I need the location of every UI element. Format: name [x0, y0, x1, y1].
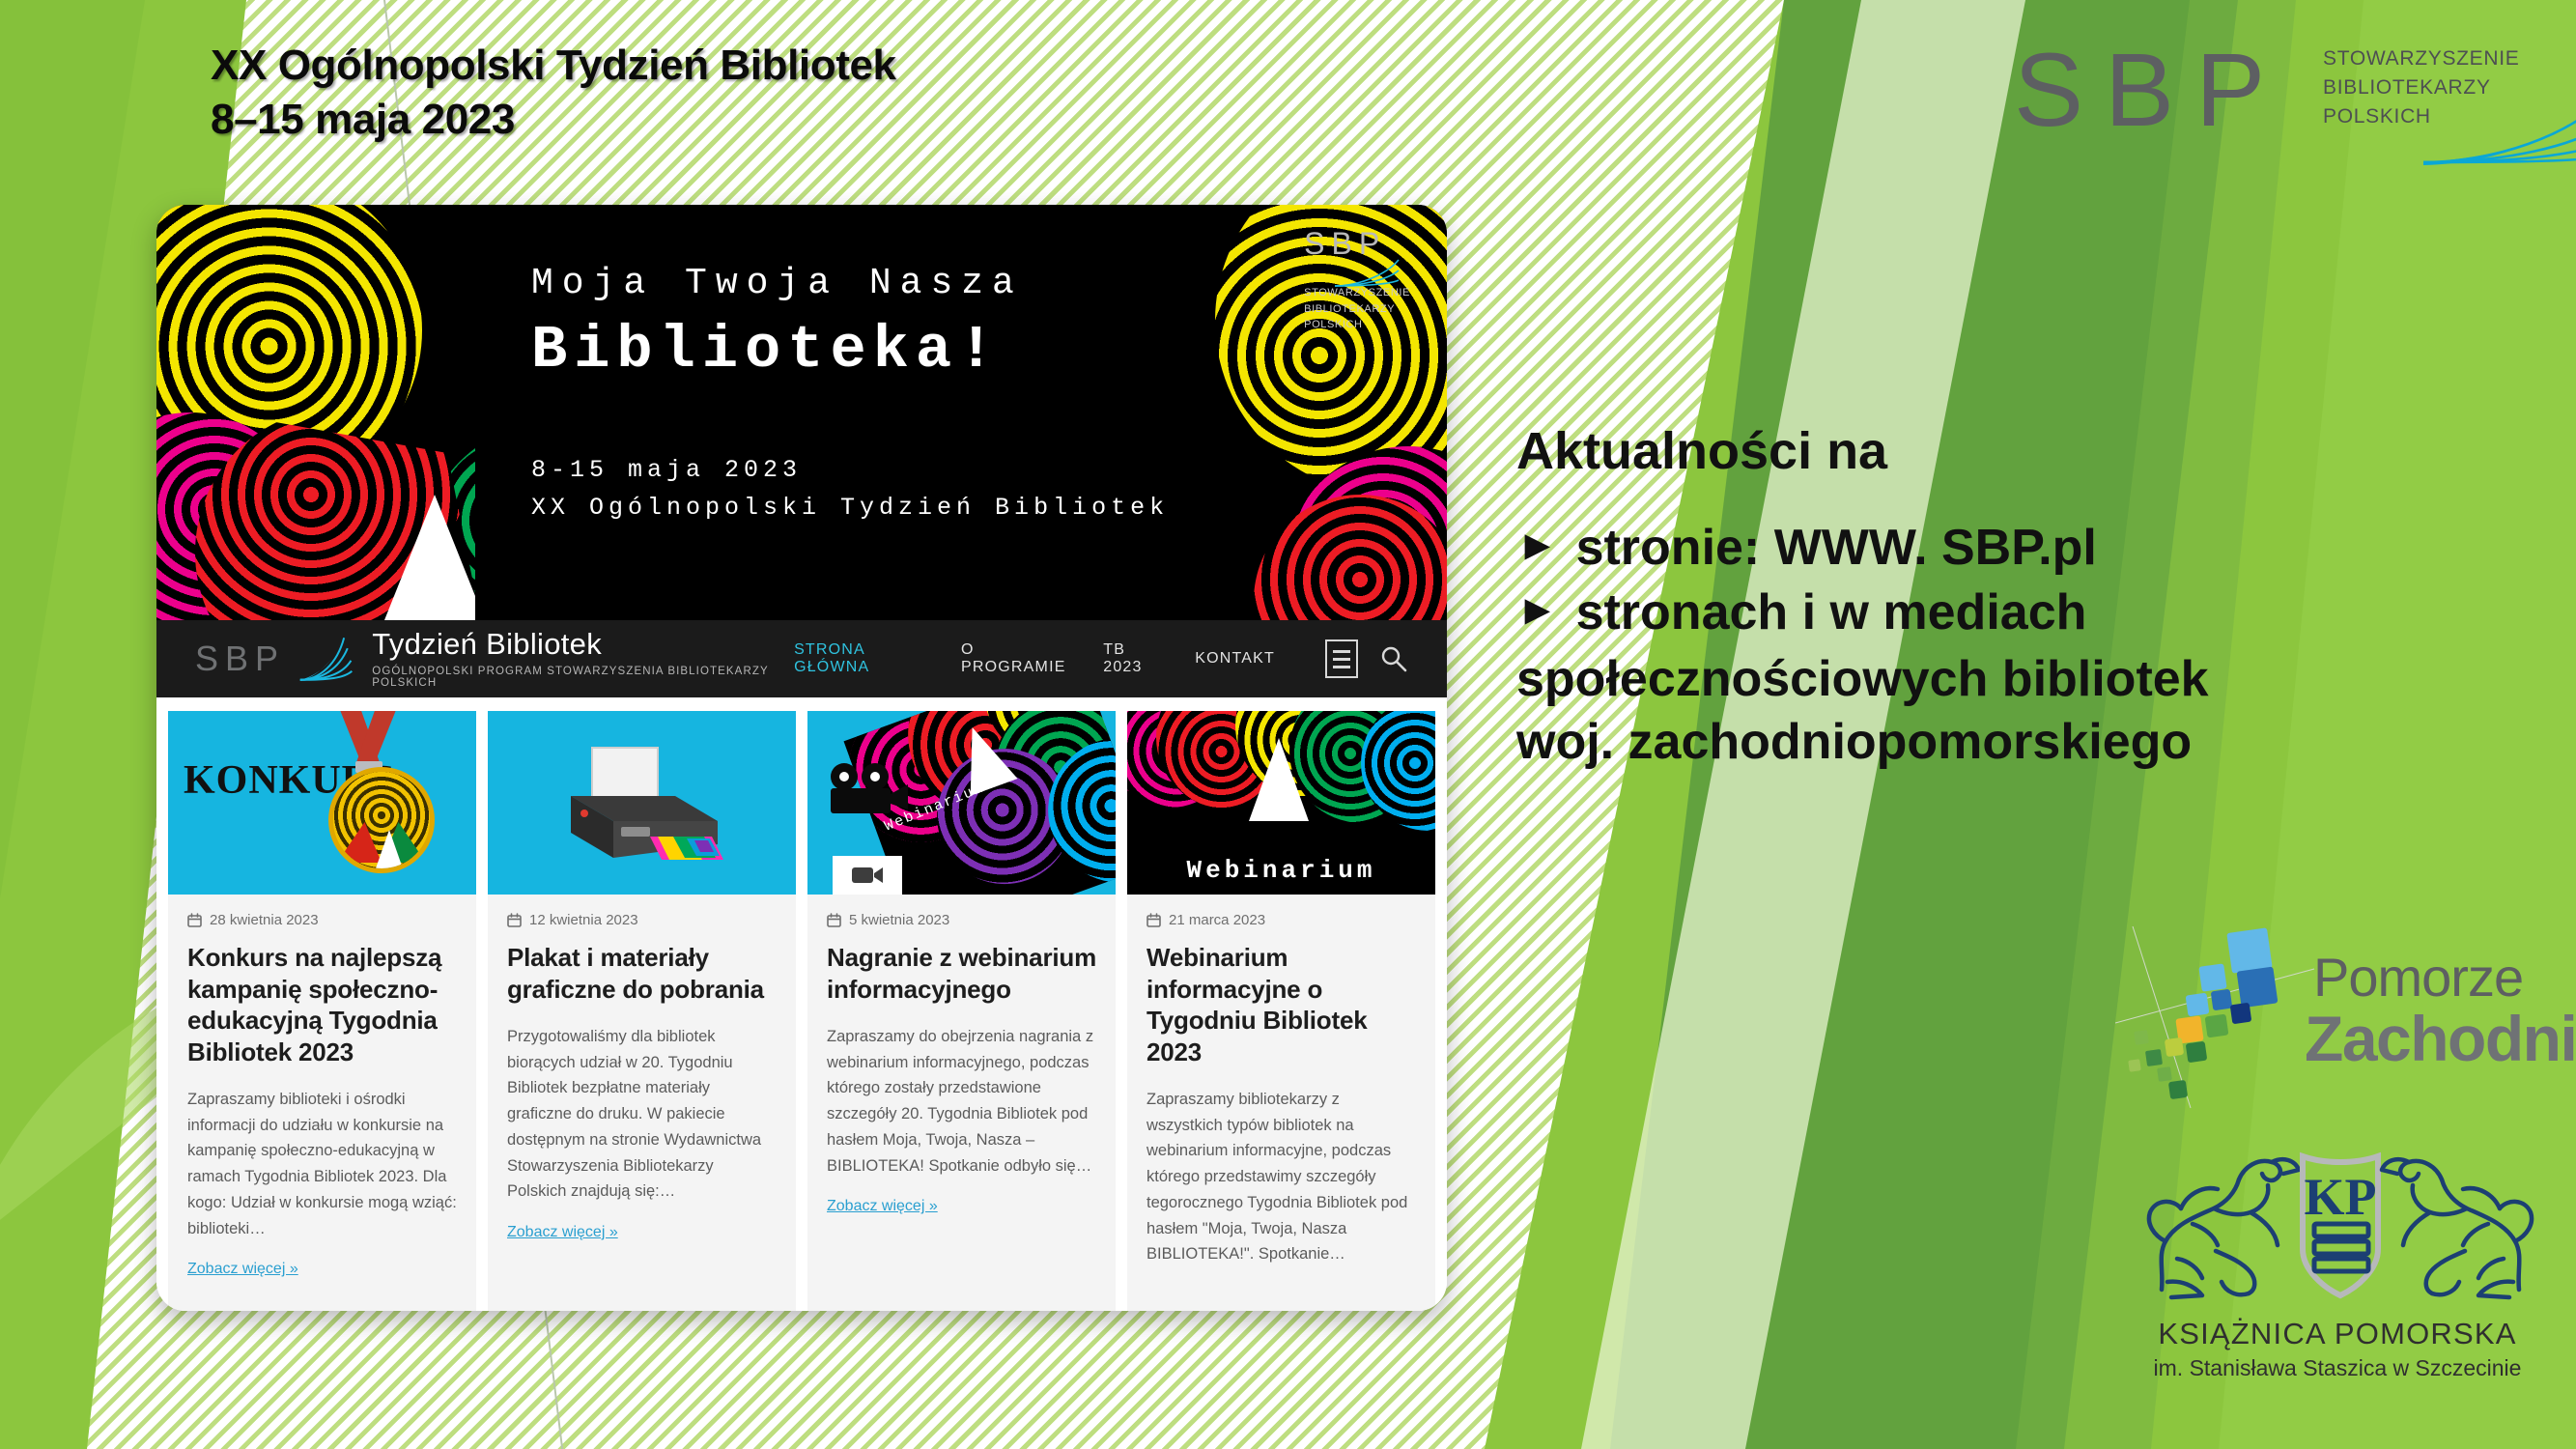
site-navbar: SBP Tydzień Bibliotek OGÓLNOPOLSKI PROGR… [156, 620, 1447, 697]
pomorze-zachodnie-logo: Pomorze Zachodnie [2115, 923, 2569, 1111]
ksiaznica-title: KSIĄŻNICA POMORSKA [2106, 1317, 2569, 1351]
hero-line-1: Moja Twoja Nasza [531, 263, 1169, 304]
triangle-bullet-icon-2: ► [1516, 582, 1559, 643]
hero-sbp-letters: SBP [1304, 226, 1410, 262]
right-text-tail: społecznościowych bibliotek woj. zachodn… [1516, 648, 2502, 774]
news-card[interactable]: Webinarium [807, 711, 1116, 1311]
sbp-fan-icon [2420, 81, 2576, 168]
sbp-word-line-1: STOWARZYSZENIE [2323, 44, 2520, 73]
calendar-icon [1146, 913, 1161, 927]
page-title: XX Ogólnopolski Tydzień Bibliotek 8–15 m… [211, 39, 1563, 148]
bullet-item-website: ► stronie: WWW. SBP.pl [1516, 518, 2502, 579]
navbar-titles: Tydzień Bibliotek OGÓLNOPOLSKI PROGRAM S… [372, 629, 794, 689]
hero-sbp-fan-icon [1333, 259, 1401, 288]
right-text-block: Aktualności na ► stronie: WWW. SBP.pl ► … [1516, 420, 2502, 774]
griffins-shield-icon: KP [2133, 1135, 2548, 1319]
navbar-icons [1325, 639, 1408, 678]
card-date-label: 12 kwietnia 2023 [529, 912, 638, 928]
card-body: 12 kwietnia 2023 Plakat i materiały graf… [488, 895, 796, 1241]
calendar-icon [827, 913, 841, 927]
card-date-label: 28 kwietnia 2023 [210, 912, 319, 928]
navbar-brand[interactable]: SBP Tydzień Bibliotek OGÓLNOPOLSKI PROGR… [195, 629, 794, 689]
navbar-sbp-letters: SBP [195, 639, 285, 679]
card-title[interactable]: Nagranie z webinarium informacyjnego [827, 942, 1096, 1005]
card-read-more-link[interactable]: Zobacz więcej » [507, 1224, 777, 1241]
news-card[interactable]: KONKURS [168, 711, 476, 1311]
video-camera-icon [851, 864, 884, 887]
zachodnie-word: Zachodnie [2305, 1002, 2576, 1075]
card-title[interactable]: Plakat i materiały graficzne do pobrania [507, 942, 777, 1005]
card-date: 12 kwietnia 2023 [507, 912, 777, 928]
card-read-more-link[interactable]: Zobacz więcej » [827, 1198, 1096, 1215]
card-date: 28 kwietnia 2023 [187, 912, 457, 928]
ksiaznica-subtitle: im. Stanisława Staszica w Szczecinie [2106, 1355, 2569, 1381]
calendar-icon [187, 913, 202, 927]
bullet-item-social-label: stronach i w mediach [1576, 582, 2087, 643]
news-card-grid: KONKURS [156, 697, 1447, 1311]
hero-line-4: XX Ogólnopolski Tydzień Bibliotek [531, 490, 1169, 527]
nav-link-tb-2023[interactable]: TB 2023 [1103, 641, 1162, 676]
hero-sbp-wordmark: STOWARZYSZENIE BIBLIOTEKARZY POLSKICH [1304, 285, 1410, 333]
navbar-title: Tydzień Bibliotek [372, 629, 794, 659]
search-icon[interactable] [1379, 644, 1408, 673]
card-body: 21 marca 2023 Webinarium informacyjne o … [1127, 895, 1435, 1267]
card-image-webinarium: Webinarium [1127, 711, 1435, 895]
card-date: 21 marca 2023 [1146, 912, 1416, 928]
card-body: 28 kwietnia 2023 Konkurs na najlepszą ka… [168, 895, 476, 1278]
card-excerpt: Przygotowaliśmy dla bibliotek biorących … [507, 1024, 777, 1205]
pomorze-word: Pomorze [2313, 946, 2523, 1009]
card-date-label: 21 marca 2023 [1169, 912, 1265, 928]
nav-link-kontakt[interactable]: KONTAKT [1195, 650, 1275, 668]
card-date: 5 kwietnia 2023 [827, 912, 1096, 928]
hamburger-icon[interactable] [1325, 639, 1358, 678]
hero-line-2: Biblioteka! [531, 316, 1169, 384]
sbp-logo-letters: SBP [2014, 29, 2286, 150]
card-title[interactable]: Webinarium informacyjne o Tygodniu Bibli… [1146, 942, 1416, 1067]
news-card[interactable]: 12 kwietnia 2023 Plakat i materiały graf… [488, 711, 796, 1311]
card-date-label: 5 kwietnia 2023 [849, 912, 949, 928]
nav-link-strona-glowna[interactable]: STRONA GŁÓWNA [794, 641, 928, 676]
triangle-bullet-icon: ► [1516, 518, 1559, 579]
navbar-subtitle: OGÓLNOPOLSKI PROGRAM STOWARZYSZENIA BIBL… [372, 666, 794, 689]
card-read-more-link[interactable]: Zobacz więcej » [187, 1261, 457, 1278]
hero-sbp-word-3: POLSKICH [1304, 317, 1410, 333]
printer-icon [557, 744, 731, 869]
navbar-fan-icon [298, 634, 353, 684]
medal-icon [328, 767, 435, 873]
card-image-konkurs: KONKURS [168, 711, 476, 895]
hero-copy: Moja Twoja Nasza Biblioteka! 8-15 maja 2… [531, 263, 1169, 527]
nav-link-o-programie[interactable]: O PROGRAMIE [961, 641, 1070, 676]
card-excerpt: Zapraszamy bibliotekarzy z wszystkich ty… [1146, 1087, 1416, 1267]
mosaic-squares-icon [2115, 923, 2318, 1111]
hero-banner: Moja Twoja Nasza Biblioteka! 8-15 maja 2… [156, 205, 1447, 620]
card-excerpt: Zapraszamy do obejrzenia nagrania z webi… [827, 1024, 1096, 1179]
right-text-lead: Aktualności na [1516, 420, 2502, 483]
video-badge [833, 856, 902, 895]
card-excerpt: Zapraszamy biblioteki i ośrodki informac… [187, 1087, 457, 1241]
webinarium-label: Webinarium [1127, 856, 1435, 885]
news-card[interactable]: Webinarium 21 marca 2023 Webinarium info… [1127, 711, 1435, 1311]
card-image-printer [488, 711, 796, 895]
fingerprint-red-right-icon [1254, 495, 1447, 620]
hero-sbp-word-2: BIBLIOTEKARZY [1304, 301, 1410, 318]
website-screenshot: Moja Twoja Nasza Biblioteka! 8-15 maja 2… [156, 205, 1447, 1311]
navbar-links: STRONA GŁÓWNA O PROGRAMIE TB 2023 KONTAK… [794, 641, 1275, 676]
svg-text:KP: KP [2305, 1168, 2377, 1226]
card-body: 5 kwietnia 2023 Nagranie z webinarium in… [807, 895, 1116, 1215]
sbp-logo: SBP STOWARZYSZENIE BIBLIOTEKARZY POLSKIC… [2014, 23, 2555, 158]
hero-line-3: 8-15 maja 2023 [531, 452, 1169, 490]
card-image-webinar-recording: Webinarium [807, 711, 1116, 895]
hero-sbp-logo: SBP STOWARZYSZENIE BIBLIOTEKARZY POLSKIC… [1304, 226, 1410, 333]
film-camera-icon [825, 761, 908, 819]
card-title[interactable]: Konkurs na najlepszą kampanię społeczno-… [187, 942, 457, 1067]
presentation-slide: XX Ogólnopolski Tydzień Bibliotek 8–15 m… [0, 0, 2576, 1449]
bullet-item-social: ► stronach i w mediach [1516, 582, 2502, 643]
ksiaznica-pomorska-logo: KP KSIĄŻNICA POMORSKA [2106, 1135, 2569, 1430]
bullet-item-website-label: stronie: WWW. SBP.pl [1576, 518, 2097, 579]
calendar-icon [507, 913, 522, 927]
